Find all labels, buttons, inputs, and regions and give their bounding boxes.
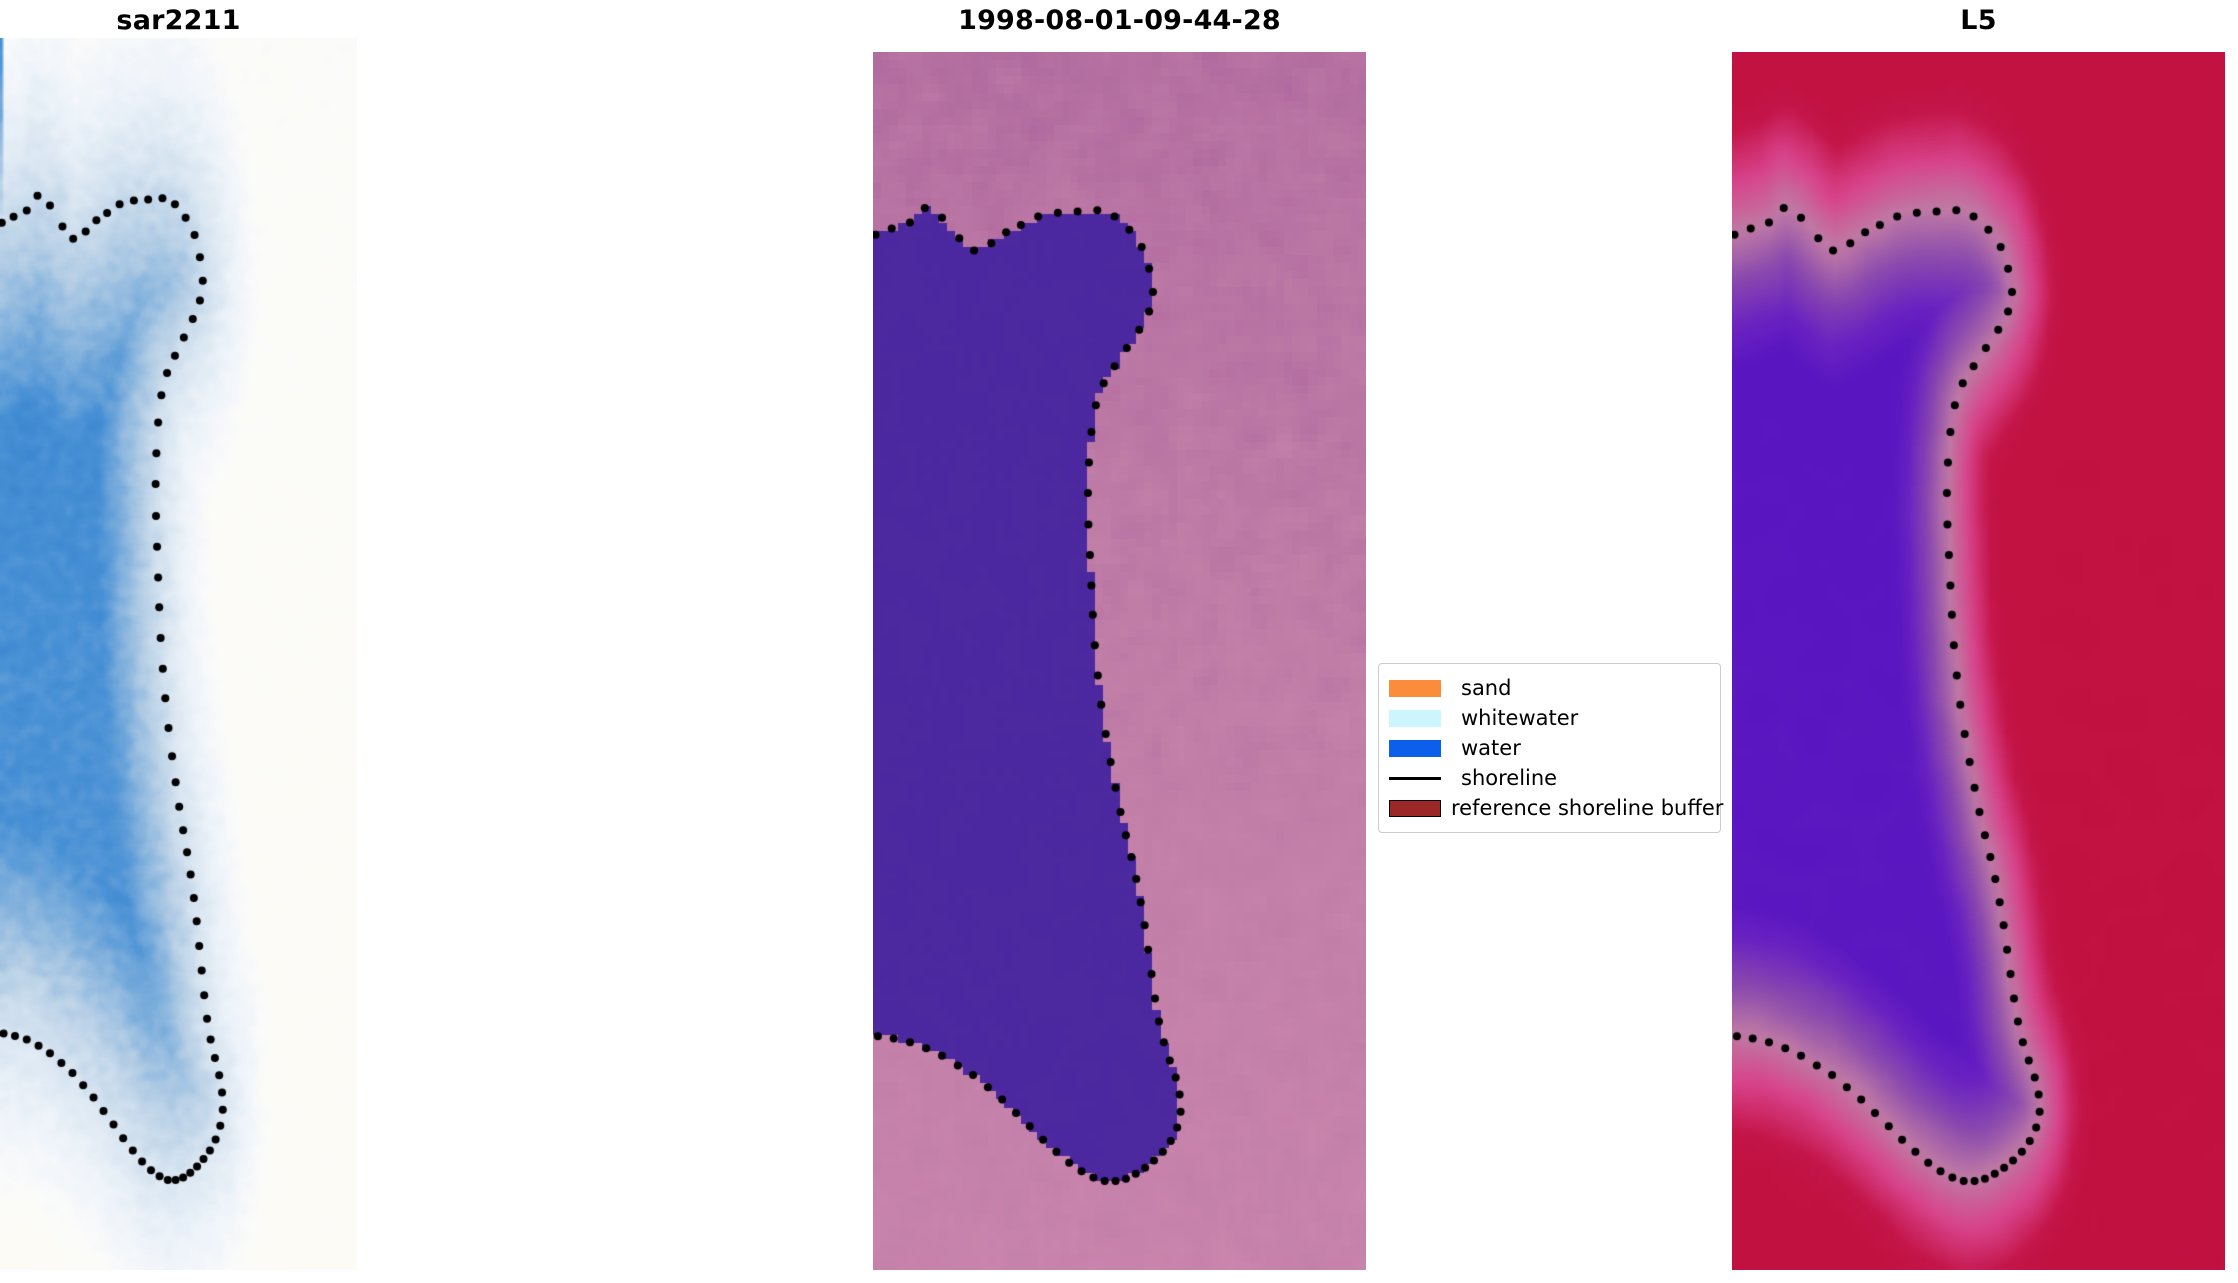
legend-item: reference shoreline buffer [1389,793,1709,823]
legend-item: whitewater [1389,703,1709,733]
legend-label-sand: sand [1461,678,1511,699]
legend-label-shoreline: shoreline [1461,768,1557,789]
legend-swatch-water [1389,740,1451,757]
classification-image [873,52,1366,1270]
panel-classification: 1998-08-01-09-44-28 [0,0,2238,1283]
sar-image [0,38,357,1270]
legend-label-reference-shoreline-buffer: reference shoreline buffer [1451,798,1723,819]
legend-label-water: water [1461,738,1521,759]
legend-item: sand [1389,673,1709,703]
legend-item: water [1389,733,1709,763]
legend-swatch-shoreline [1389,777,1451,780]
legend-label-whitewater: whitewater [1461,708,1578,729]
panel-title-classification: 1998-08-01-09-44-28 [873,2,1366,40]
l5-image [1732,52,2225,1270]
legend-swatch-whitewater [1389,710,1451,727]
panel-title-l5: L5 [1732,2,2225,40]
legend-swatch-sand [1389,680,1451,697]
panel-l5: L5 [0,0,2238,1283]
panel-sar: sar2211 [0,0,2238,1283]
legend-swatch-reference-shoreline-buffer [1389,800,1441,817]
legend-item: shoreline [1389,763,1709,793]
panel-title-sar: sar2211 [0,2,357,40]
figure-canvas: sar2211 1998-08-01-09-44-28 L5 sand whit… [0,0,2238,1283]
legend: sand whitewater water shoreline referenc… [1378,663,1721,833]
